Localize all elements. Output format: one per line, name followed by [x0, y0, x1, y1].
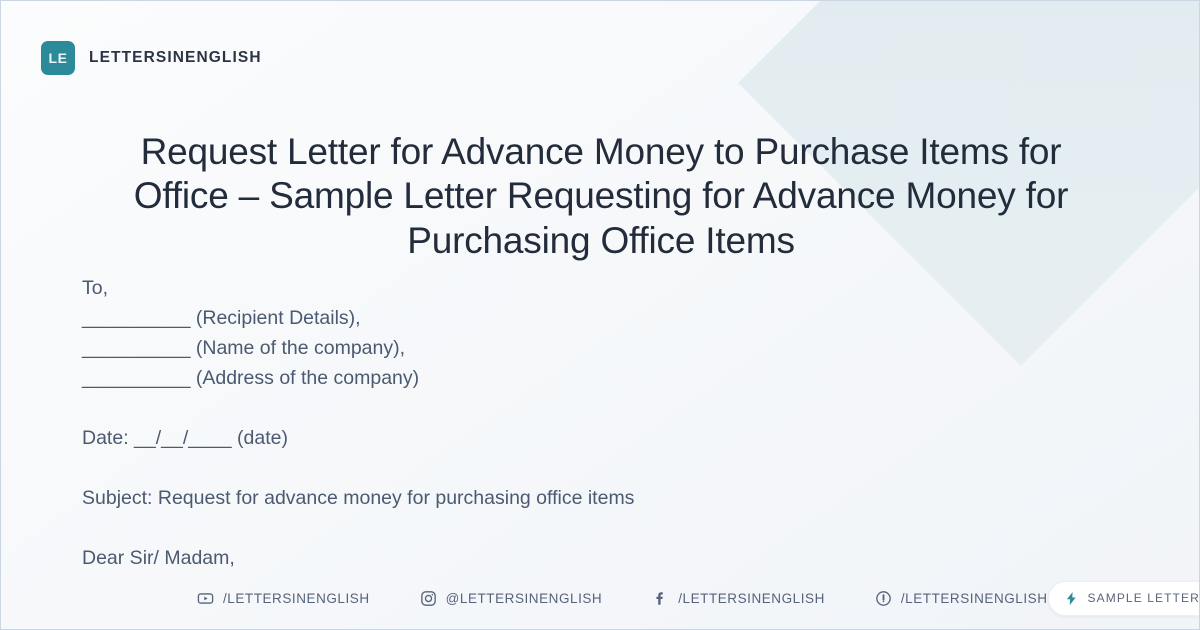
pinterest-icon [875, 590, 892, 607]
letter-line-to: To, [82, 273, 1082, 303]
letter-spacer [82, 393, 1082, 423]
lightning-bolt-icon [1064, 591, 1079, 606]
letter-spacer [82, 453, 1082, 483]
letter-line-address: __________ (Address of the company) [82, 363, 1082, 393]
sample-letter-format-badge[interactable]: SAMPLE LETTER FORMAT [1048, 581, 1200, 616]
letter-line-date: Date: __/__/____ (date) [82, 423, 1082, 453]
poster-canvas: LE LETTERSINENGLISH Request Letter for A… [0, 0, 1200, 630]
social-handle: /LETTERSINENGLISH [223, 591, 370, 606]
page-title: Request Letter for Advance Money to Purc… [101, 130, 1101, 263]
social-handle: /LETTERSINENGLISH [678, 591, 825, 606]
social-link-instagram[interactable]: @LETTERSINENGLISH [420, 590, 603, 607]
facebook-icon [652, 590, 669, 607]
brand-logo[interactable]: LE LETTERSINENGLISH [41, 41, 262, 75]
social-handle: @LETTERSINENGLISH [446, 591, 603, 606]
instagram-icon [420, 590, 437, 607]
brand-name: LETTERSINENGLISH [89, 49, 262, 67]
social-links-list: /LETTERSINENGLISH @LETTERSINENGLISH [197, 590, 1048, 607]
social-link-pinterest[interactable]: /LETTERSINENGLISH [875, 590, 1048, 607]
social-handle: /LETTERSINENGLISH [901, 591, 1048, 606]
badge-label: SAMPLE LETTER FORMAT [1088, 591, 1200, 605]
letter-spacer [82, 513, 1082, 543]
letter-line-subject: Subject: Request for advance money for p… [82, 483, 1082, 513]
letter-line-recipient: __________ (Recipient Details), [82, 303, 1082, 333]
letter-body: To, __________ (Recipient Details), ____… [82, 273, 1082, 573]
footer-bar: /LETTERSINENGLISH @LETTERSINENGLISH [1, 567, 1199, 629]
letter-line-company: __________ (Name of the company), [82, 333, 1082, 363]
social-link-youtube[interactable]: /LETTERSINENGLISH [197, 590, 370, 607]
social-link-facebook[interactable]: /LETTERSINENGLISH [652, 590, 825, 607]
youtube-icon [197, 590, 214, 607]
brand-mark-icon: LE [41, 41, 75, 75]
